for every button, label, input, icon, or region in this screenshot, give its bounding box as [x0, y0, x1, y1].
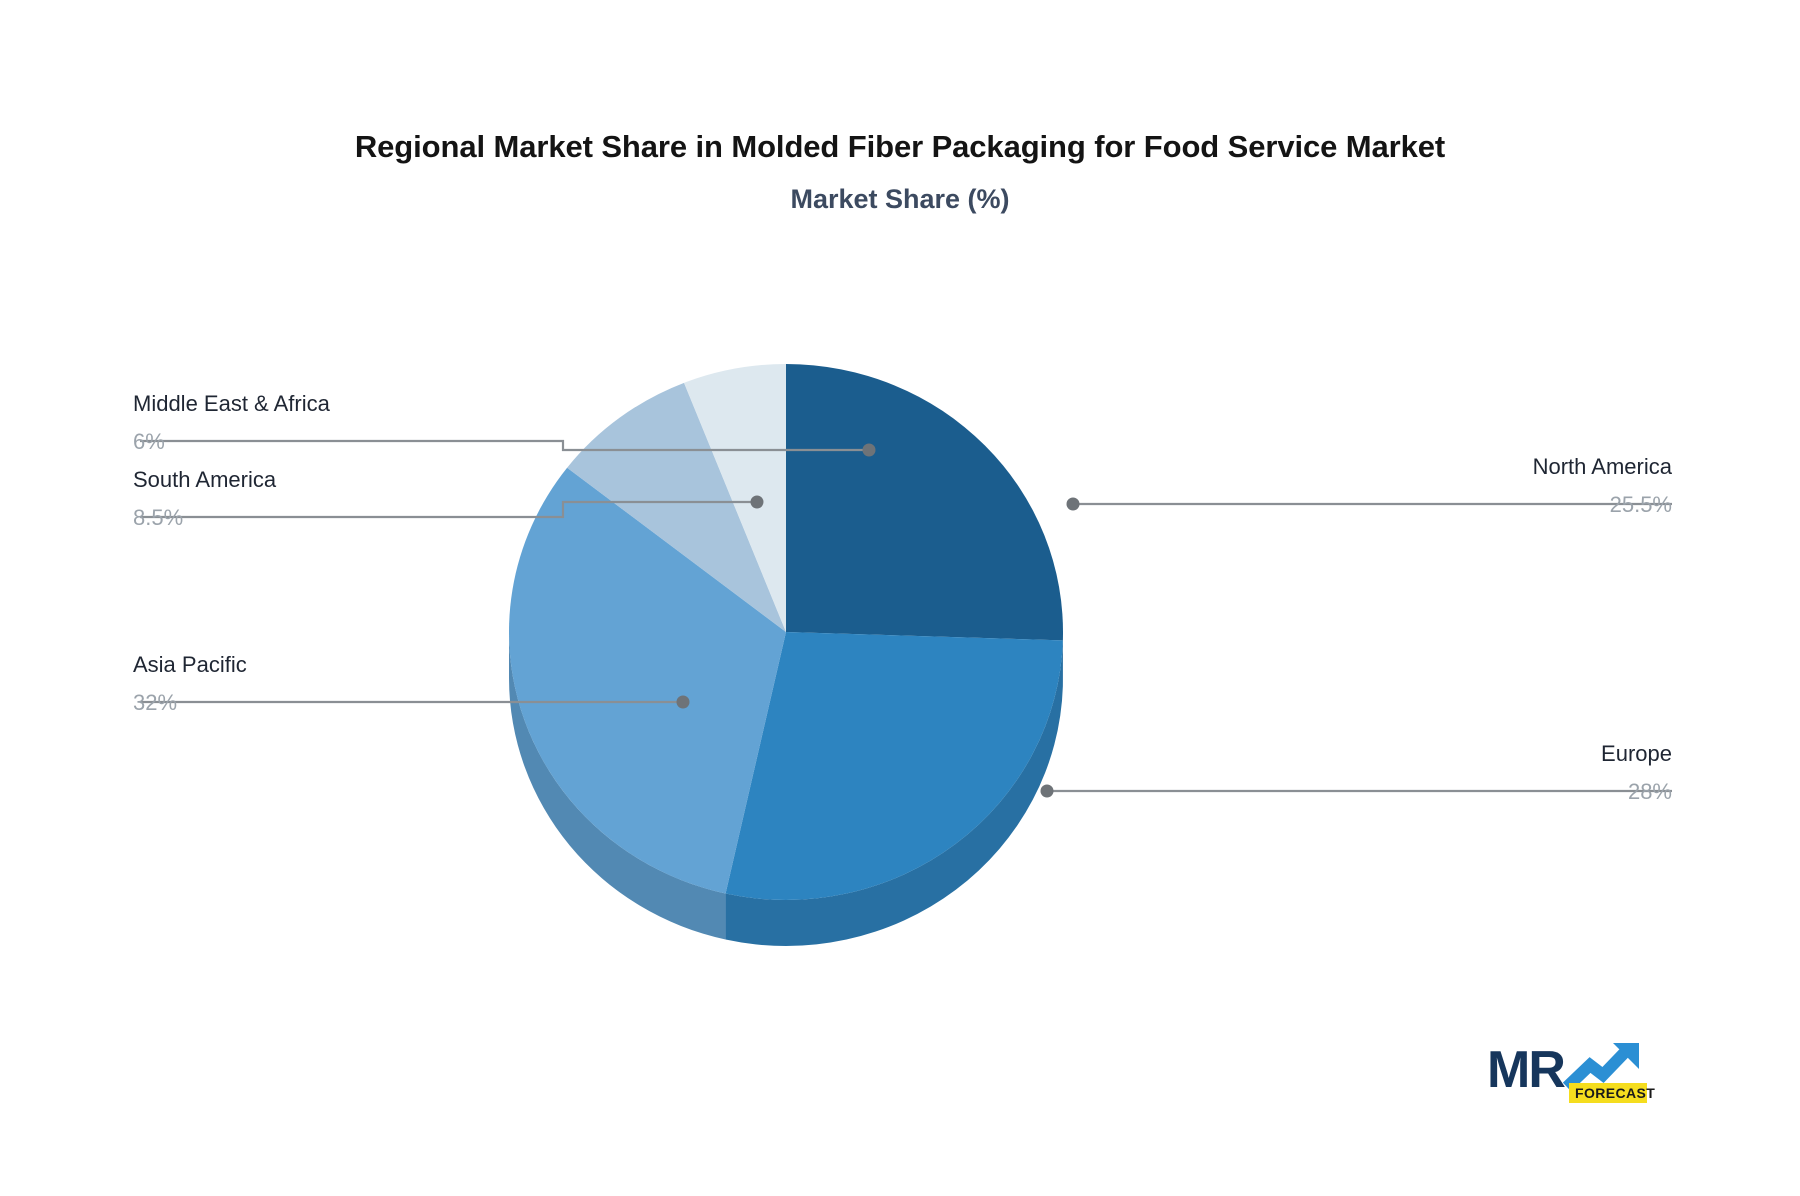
leader-dot-north-america	[1067, 498, 1080, 511]
callout-asia-pacific-label: Asia Pacific	[133, 651, 558, 684]
callout-north-america-label: North America	[1247, 453, 1672, 486]
pie-chart-svg	[0, 0, 1800, 1196]
callout-south-america: South America 8.5%	[133, 466, 558, 531]
trend-arrow-icon	[1567, 1049, 1628, 1087]
callout-europe: Europe 28%	[1247, 740, 1672, 805]
pie-slice-layer	[509, 364, 1063, 900]
callout-north-america-value: 25.5%	[1247, 486, 1672, 519]
leader-dot-europe	[1041, 785, 1054, 798]
callout-north-america: North America 25.5%	[1247, 453, 1672, 518]
callout-south-america-label: South America	[133, 466, 558, 499]
logo-wordmark: MR	[1487, 1041, 1565, 1099]
callout-asia-pacific-value: 32%	[133, 684, 558, 717]
leader-dot-asia-pacific	[677, 696, 690, 709]
callout-mea: Middle East & Africa 6%	[133, 390, 558, 455]
callout-mea-label: Middle East & Africa	[133, 390, 558, 423]
callout-europe-label: Europe	[1247, 740, 1672, 773]
mr-forecast-logo: MR FORECAST	[1487, 1035, 1657, 1107]
chart-container: Regional Market Share in Molded Fiber Pa…	[0, 0, 1800, 1196]
callout-south-america-value: 8.5%	[133, 499, 558, 532]
callout-mea-value: 6%	[133, 423, 558, 456]
leader-dot-mea	[863, 444, 876, 457]
leader-dot-south-america	[751, 496, 764, 509]
pie-slice-north-america[interactable]	[786, 364, 1063, 640]
logo-badge-text: FORECAST	[1575, 1085, 1655, 1101]
callout-europe-value: 28%	[1247, 773, 1672, 806]
callout-asia-pacific: Asia Pacific 32%	[133, 651, 558, 716]
